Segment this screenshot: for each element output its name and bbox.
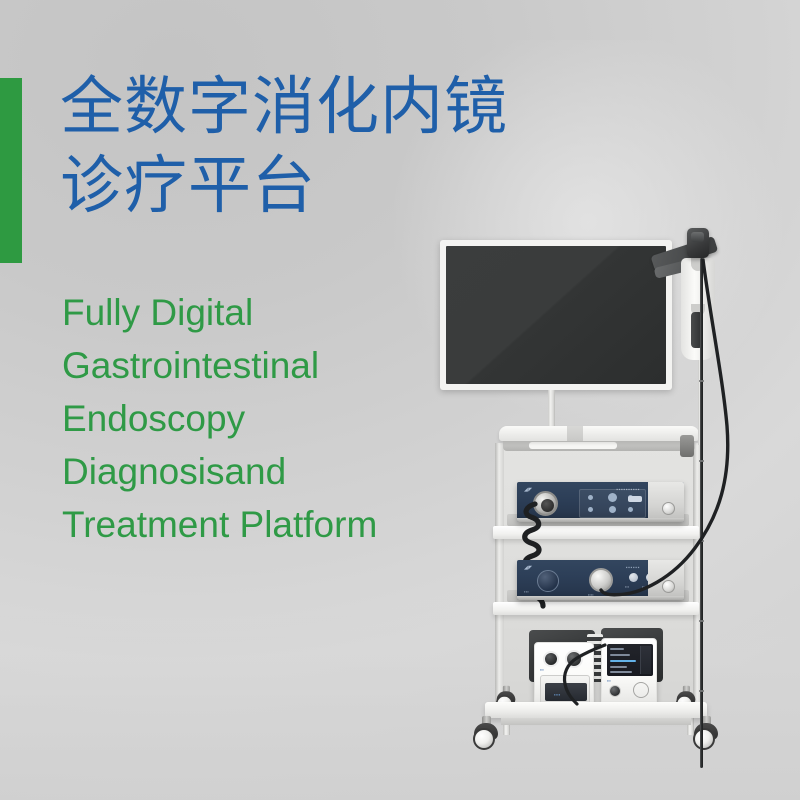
endoscopy-tower-cart: ◢◤ ▪▪▪▪▪▪▪▪▪▪ ▪▪▪ [455,230,755,790]
green-accent-bar [0,78,22,263]
poster-canvas: 全数字消化内镜 诊疗平台 Fully Digital Gastrointesti… [0,0,800,800]
headline-english: Fully Digital Gastrointestinal Endoscopy… [62,286,502,551]
gastroscope-umbilical-cable [455,230,755,790]
headline-chinese: 全数字消化内镜 诊疗平台 [60,68,620,226]
